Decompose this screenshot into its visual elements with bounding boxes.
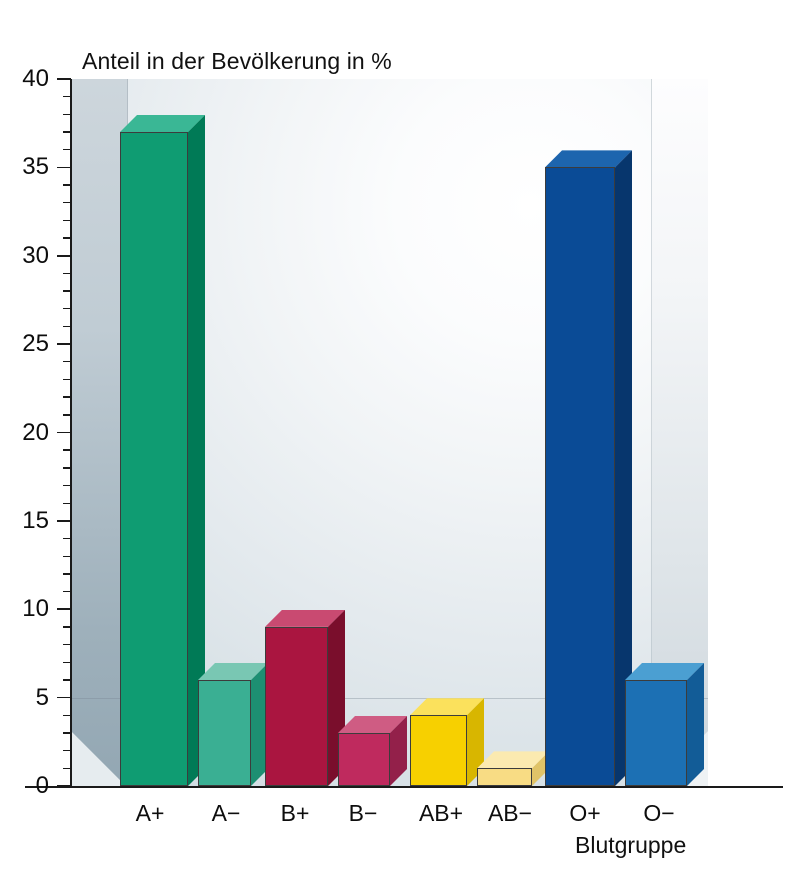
- x-axis-tick-label: A−: [212, 800, 241, 827]
- y-tick-major: [57, 697, 71, 699]
- bar-bminus[interactable]: [338, 716, 407, 786]
- y-tick-major: [57, 785, 71, 787]
- y-axis-tick-label: 20: [22, 419, 49, 447]
- y-tick-minor: [63, 379, 71, 380]
- y-tick-minor: [63, 573, 71, 574]
- y-tick-minor: [63, 485, 71, 486]
- y-tick-minor: [63, 414, 71, 415]
- y-axis-tick-label: 5: [36, 684, 49, 712]
- y-axis-tick-label: 40: [22, 65, 49, 93]
- bar-abplus[interactable]: [410, 698, 484, 786]
- y-tick-minor: [63, 202, 71, 203]
- y-tick-minor: [63, 290, 71, 291]
- bar-front-face: [625, 680, 687, 786]
- y-tick-major: [57, 608, 71, 610]
- x-axis-tick-label: O+: [569, 800, 600, 827]
- y-axis-tick-label: 30: [22, 242, 49, 270]
- x-axis-tick-label: AB+: [419, 800, 463, 827]
- y-tick-major: [57, 167, 71, 169]
- x-axis-tick-label: B−: [349, 800, 378, 827]
- y-tick-minor: [63, 326, 71, 327]
- y-tick-minor: [63, 715, 71, 716]
- x-axis-tick-label: B+: [281, 800, 310, 827]
- y-tick-minor: [63, 768, 71, 769]
- bar-front-face: [477, 768, 532, 786]
- y-tick-minor: [63, 662, 71, 663]
- y-tick-minor: [63, 184, 71, 185]
- x-axis-tick-label: A+: [136, 800, 165, 827]
- y-tick-minor: [63, 679, 71, 680]
- y-tick-minor: [63, 503, 71, 504]
- bar-bplus[interactable]: [265, 610, 345, 786]
- bar-oplus[interactable]: [545, 150, 632, 786]
- y-tick-minor: [63, 750, 71, 751]
- y-tick-minor: [63, 396, 71, 397]
- y-axis-tick-label: 0: [36, 772, 49, 800]
- x-axis-tick-label: AB−: [488, 800, 532, 827]
- y-axis-ticks: 0510152025303540: [0, 0, 71, 894]
- y-axis-tick-label: 35: [22, 153, 49, 181]
- bar-front-face: [410, 715, 467, 786]
- y-tick-minor: [63, 538, 71, 539]
- bar-abminus[interactable]: [477, 751, 549, 786]
- y-tick-major: [57, 343, 71, 345]
- x-axis-title: Blutgruppe: [575, 832, 686, 859]
- y-tick-minor: [63, 449, 71, 450]
- y-tick-minor: [63, 96, 71, 97]
- bar-aminus[interactable]: [198, 663, 268, 786]
- y-tick-minor: [63, 237, 71, 238]
- y-tick-minor: [63, 273, 71, 274]
- y-tick-major: [57, 520, 71, 522]
- y-tick-major: [57, 432, 71, 434]
- y-tick-major: [57, 78, 71, 80]
- bar-front-face: [265, 627, 328, 786]
- bar-front-face: [545, 167, 615, 786]
- y-tick-minor: [63, 308, 71, 309]
- bar-aplus[interactable]: [120, 115, 205, 786]
- x-axis-line: [25, 786, 783, 788]
- y-tick-minor: [63, 644, 71, 645]
- y-tick-minor: [63, 220, 71, 221]
- blood-group-bar-chart: Anteil in der Bevölkerung in % 051015202…: [0, 0, 788, 894]
- y-tick-minor: [63, 114, 71, 115]
- y-tick-minor: [63, 467, 71, 468]
- y-tick-minor: [63, 361, 71, 362]
- bar-front-face: [120, 132, 188, 786]
- y-tick-major: [57, 255, 71, 257]
- bars-layer: [0, 0, 788, 894]
- y-tick-minor: [63, 732, 71, 733]
- bar-ominus[interactable]: [625, 663, 704, 786]
- y-tick-minor: [63, 591, 71, 592]
- y-tick-minor: [63, 131, 71, 132]
- bar-side-face: [686, 663, 704, 786]
- bar-front-face: [198, 680, 251, 786]
- y-tick-minor: [63, 149, 71, 150]
- bar-front-face: [338, 733, 390, 786]
- y-axis-tick-label: 15: [22, 507, 49, 535]
- y-axis-tick-label: 25: [22, 330, 49, 358]
- x-axis-tick-label: O−: [643, 800, 674, 827]
- y-axis-tick-label: 10: [22, 595, 49, 623]
- y-tick-minor: [63, 626, 71, 627]
- y-tick-minor: [63, 556, 71, 557]
